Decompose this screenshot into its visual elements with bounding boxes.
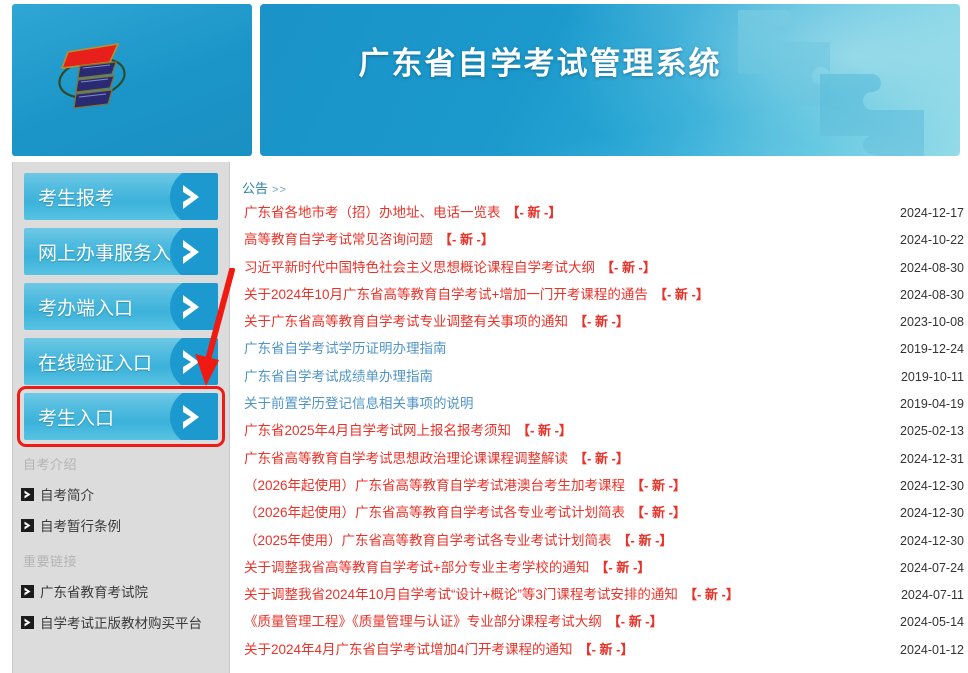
arrow-bullet-icon: [21, 488, 34, 501]
notice-date: 2019-10-11: [872, 370, 964, 384]
sidebar-link-textbook-platform[interactable]: 自学考试正版教材购买平台: [21, 612, 229, 632]
sidebar-item-label: 考生入口: [38, 403, 114, 430]
new-badge: 【- 新 -】: [517, 423, 572, 438]
new-badge: 【- 新 -】: [574, 314, 629, 329]
sidebar-link-label: 自考暂行条例: [40, 515, 121, 535]
notice-row[interactable]: （2026年起使用）广东省高等教育自学考试港澳台考生加考课程【- 新 -】202…: [236, 474, 968, 501]
sidebar-item-online-service-entry[interactable]: 网上办事服务入口: [24, 228, 218, 275]
notice-list: 广东省各地市考（招）办地址、电话一览表【- 新 -】2024-12-17高等教育…: [236, 201, 968, 665]
notice-date: 2024-08-30: [872, 261, 964, 275]
notice-row[interactable]: 广东省高等教育自学考试思想政治理论课课程调整解读【- 新 -】2024-12-3…: [236, 447, 968, 474]
page-root: 广东省自学考试管理系统 考生报考 网上办事服务入口 考办端入口: [0, 0, 968, 673]
new-badge: 【- 新 -】: [631, 478, 686, 493]
notice-title-link[interactable]: 广东省自学考试成绩单办理指南: [244, 365, 872, 385]
sidebar-link-label: 广东省教育考试院: [40, 581, 148, 601]
notice-date: 2024-12-30: [872, 506, 964, 520]
sidebar-item-candidate-entry[interactable]: 考生入口: [24, 393, 218, 440]
sidebar-item-online-verification-entry[interactable]: 在线验证入口: [24, 338, 218, 385]
arrow-bullet-icon: [21, 519, 34, 532]
notice-more-arrows: >>: [272, 184, 287, 196]
notice-date: 2025-02-13: [872, 424, 964, 438]
sidebar-link-interim-regulations[interactable]: 自考暂行条例: [21, 515, 229, 535]
notice-row[interactable]: （2025年使用）广东省高等教育自学考试各专业考试计划简表【- 新 -】2024…: [236, 529, 968, 556]
chevron-right-icon: [180, 349, 202, 375]
notice-title-link[interactable]: （2026年起使用）广东省高等教育自学考试港澳台考生加考课程【- 新 -】: [244, 474, 872, 494]
logo-panel: [12, 4, 252, 156]
notice-date: 2024-07-11: [872, 588, 964, 602]
notice-heading-label: 公告: [242, 181, 268, 196]
notice-date: 2019-12-24: [872, 342, 964, 356]
new-badge: 【- 新 -】: [654, 287, 709, 302]
sidebar-section-title-intro: 自考介绍: [23, 454, 229, 473]
sidebar-item-label: 在线验证入口: [38, 348, 152, 375]
new-badge: 【- 新 -】: [684, 587, 739, 602]
notice-date: 2024-12-17: [872, 206, 964, 220]
notice-date: 2024-08-30: [872, 288, 964, 302]
notice-row[interactable]: 关于2024年4月广东省自学考试增加4门开考课程的通知【- 新 -】2024-0…: [236, 638, 968, 665]
notice-title-link[interactable]: 广东省2025年4月自学考试网上报名报考须知【- 新 -】: [244, 419, 872, 439]
sidebar-item-label: 考生报考: [38, 183, 114, 210]
sidebar-item-exam-office-entry[interactable]: 考办端入口: [24, 283, 218, 330]
notice-row[interactable]: 高等教育自学考试常见咨询问题【- 新 -】2024-10-22: [236, 228, 968, 255]
banner-panel: 广东省自学考试管理系统: [260, 4, 960, 156]
new-badge: 【- 新 -】: [439, 232, 494, 247]
notice-row[interactable]: 关于调整我省高等教育自学考试+部分专业主考学校的通知【- 新 -】2024-07…: [236, 556, 968, 583]
sidebar-item-label: 网上办事服务入口: [38, 238, 190, 265]
new-badge: 【- 新 -】: [631, 505, 686, 520]
sidebar-link-self-study-intro[interactable]: 自考简介: [21, 484, 229, 504]
notice-title-link[interactable]: 关于调整我省2024年10月自学考试“设计+概论”等3门课程考试安排的通知【- …: [244, 583, 872, 603]
notice-title-link[interactable]: （2026年起使用）广东省高等教育自学考试各专业考试计划简表【- 新 -】: [244, 501, 872, 521]
notice-date: 2023-10-08: [872, 315, 964, 329]
sidebar-section-title-links: 重要链接: [23, 551, 229, 570]
chevron-right-icon: [180, 294, 202, 320]
notice-row[interactable]: 广东省自学考试学历证明办理指南2019-12-24: [236, 337, 968, 364]
notice-panel: 公告>> 广东省各地市考（招）办地址、电话一览表【- 新 -】2024-12-1…: [236, 162, 968, 673]
notice-date: 2019-04-19: [872, 397, 964, 411]
notice-date: 2024-01-12: [872, 643, 964, 657]
notice-row[interactable]: 关于前置学历登记信息相关事项的说明2019-04-19: [236, 392, 968, 419]
notice-title-link[interactable]: 习近平新时代中国特色社会主义思想概论课程自学考试大纲【- 新 -】: [244, 256, 872, 276]
chevron-right-icon: [180, 184, 202, 210]
sidebar-link-label: 自考简介: [40, 484, 94, 504]
notice-title-link[interactable]: 关于前置学历登记信息相关事项的说明: [244, 392, 872, 412]
sidebar-link-guangdong-exam-authority[interactable]: 广东省教育考试院: [21, 581, 229, 601]
sidebar-item-kaosheng-baokao[interactable]: 考生报考: [24, 173, 218, 220]
sidebar-item-label: 考办端入口: [38, 293, 133, 320]
new-badge: 【- 新 -】: [595, 560, 650, 575]
notice-row[interactable]: 关于调整我省2024年10月自学考试“设计+概论”等3门课程考试安排的通知【- …: [236, 583, 968, 610]
notice-row[interactable]: 广东省2025年4月自学考试网上报名报考须知【- 新 -】2025-02-13: [236, 419, 968, 446]
notice-title-link[interactable]: 高等教育自学考试常见咨询问题【- 新 -】: [244, 228, 872, 248]
graduation-book-logo-icon: [50, 26, 134, 118]
notice-heading[interactable]: 公告>>: [242, 178, 287, 197]
notice-title-link[interactable]: 广东省自学考试学历证明办理指南: [244, 337, 872, 357]
notice-date: 2024-12-30: [872, 534, 964, 548]
notice-title-link[interactable]: 《质量管理工程》《质量管理与认证》专业部分课程考试大纲【- 新 -】: [244, 610, 872, 630]
notice-date: 2024-10-22: [872, 233, 964, 247]
notice-row[interactable]: 广东省自学考试成绩单办理指南2019-10-11: [236, 365, 968, 392]
notice-title-link[interactable]: 关于2024年10月广东省高等教育自学考试+增加一门开考课程的通告【- 新 -】: [244, 283, 872, 303]
page-title: 广东省自学考试管理系统: [260, 38, 960, 83]
notice-row[interactable]: 习近平新时代中国特色社会主义思想概论课程自学考试大纲【- 新 -】2024-08…: [236, 256, 968, 283]
notice-title-link[interactable]: 广东省各地市考（招）办地址、电话一览表【- 新 -】: [244, 201, 872, 221]
chevron-right-icon: [180, 404, 202, 430]
arrow-bullet-icon: [21, 585, 34, 598]
new-badge: 【- 新 -】: [507, 205, 562, 220]
notice-date: 2024-12-30: [872, 479, 964, 493]
new-badge: 【- 新 -】: [601, 260, 656, 275]
new-badge: 【- 新 -】: [608, 614, 663, 629]
notice-title-link[interactable]: （2025年使用）广东省高等教育自学考试各专业考试计划简表【- 新 -】: [244, 529, 872, 549]
new-badge: 【- 新 -】: [574, 451, 629, 466]
notice-title-link[interactable]: 广东省高等教育自学考试思想政治理论课课程调整解读【- 新 -】: [244, 447, 872, 467]
sidebar-link-label: 自学考试正版教材购买平台: [40, 612, 202, 632]
notice-title-link[interactable]: 关于广东省高等教育自学考试专业调整有关事项的通知【- 新 -】: [244, 310, 872, 330]
sidebar: 考生报考 网上办事服务入口 考办端入口 在线验证入口: [12, 162, 230, 673]
chevron-right-icon: [180, 239, 202, 265]
new-badge: 【- 新 -】: [618, 533, 673, 548]
notice-row[interactable]: 关于广东省高等教育自学考试专业调整有关事项的通知【- 新 -】2023-10-0…: [236, 310, 968, 337]
notice-date: 2024-07-24: [872, 561, 964, 575]
notice-row[interactable]: 关于2024年10月广东省高等教育自学考试+增加一门开考课程的通告【- 新 -】…: [236, 283, 968, 310]
arrow-bullet-icon: [21, 616, 34, 629]
notice-title-link[interactable]: 关于2024年4月广东省自学考试增加4门开考课程的通知【- 新 -】: [244, 638, 872, 658]
notice-date: 2024-05-14: [872, 615, 964, 629]
notice-date: 2024-12-31: [872, 452, 964, 466]
new-badge: 【- 新 -】: [579, 642, 634, 657]
notice-row[interactable]: （2026年起使用）广东省高等教育自学考试各专业考试计划简表【- 新 -】202…: [236, 501, 968, 528]
site-header: 广东省自学考试管理系统: [0, 0, 968, 160]
notice-row[interactable]: 广东省各地市考（招）办地址、电话一览表【- 新 -】2024-12-17: [236, 201, 968, 228]
notice-title-link[interactable]: 关于调整我省高等教育自学考试+部分专业主考学校的通知【- 新 -】: [244, 556, 872, 576]
notice-row[interactable]: 《质量管理工程》《质量管理与认证》专业部分课程考试大纲【- 新 -】2024-0…: [236, 610, 968, 637]
